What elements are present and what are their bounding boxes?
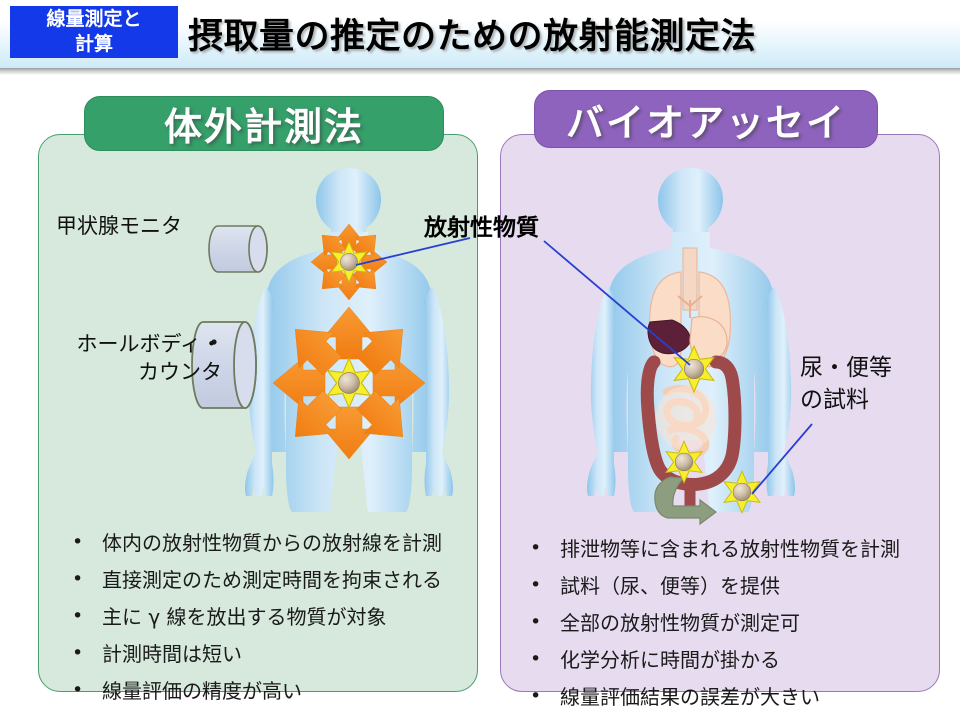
bullet-list-bioassay: 排泄物等に含まれる放射性物質を計測 試料（尿、便等）を提供 全部の放射性物質が測… [518, 534, 900, 719]
list-item: 主に γ 線を放出する物質が対象 [60, 602, 442, 632]
list-item: 直接測定のため測定時間を拘束される [60, 565, 442, 595]
label-whole-body-counter-line2: カウンタ [52, 358, 222, 386]
list-item: 化学分析に時間が掛かる [518, 645, 900, 675]
label-thyroid-monitor: 甲状腺モニタ [56, 212, 182, 240]
header-divider [0, 68, 960, 75]
list-item: 線量評価結果の誤差が大きい [518, 682, 900, 712]
label-sample-line2: の試料 [800, 384, 892, 416]
slide: 線量測定と 計算 摂取量の推定のための放射能測定法 [0, 0, 960, 720]
list-item: 全部の放射性物質が測定可 [518, 608, 900, 638]
label-radioactive-material: 放射性物質 [424, 214, 539, 242]
label-whole-body-counter-line1: ホールボディ・ [52, 330, 222, 358]
topic-badge-line1: 線量測定と [46, 7, 141, 32]
label-whole-body-counter: ホールボディ・ カウンタ [52, 330, 222, 386]
topic-badge: 線量測定と 計算 [10, 6, 178, 58]
label-sample: 尿・便等 の試料 [800, 352, 892, 416]
page-title: 摂取量の推定のための放射能測定法 [188, 8, 756, 59]
list-item: 体内の放射性物質からの放射線を計測 [60, 528, 442, 558]
list-item: 試料（尿、便等）を提供 [518, 571, 900, 601]
bullet-list-external: 体内の放射性物質からの放射線を計測 直接測定のため測定時間を拘束される 主に γ… [60, 528, 442, 713]
topic-badge-line2: 計算 [75, 32, 113, 57]
section-header-external: 体外計測法 [84, 96, 444, 151]
label-sample-line1: 尿・便等 [800, 352, 892, 384]
section-header-bioassay: バイオアッセイ [534, 90, 878, 148]
list-item: 計測時間は短い [60, 639, 442, 669]
list-item: 線量評価の精度が高い [60, 676, 442, 706]
list-item: 排泄物等に含まれる放射性物質を計測 [518, 534, 900, 564]
